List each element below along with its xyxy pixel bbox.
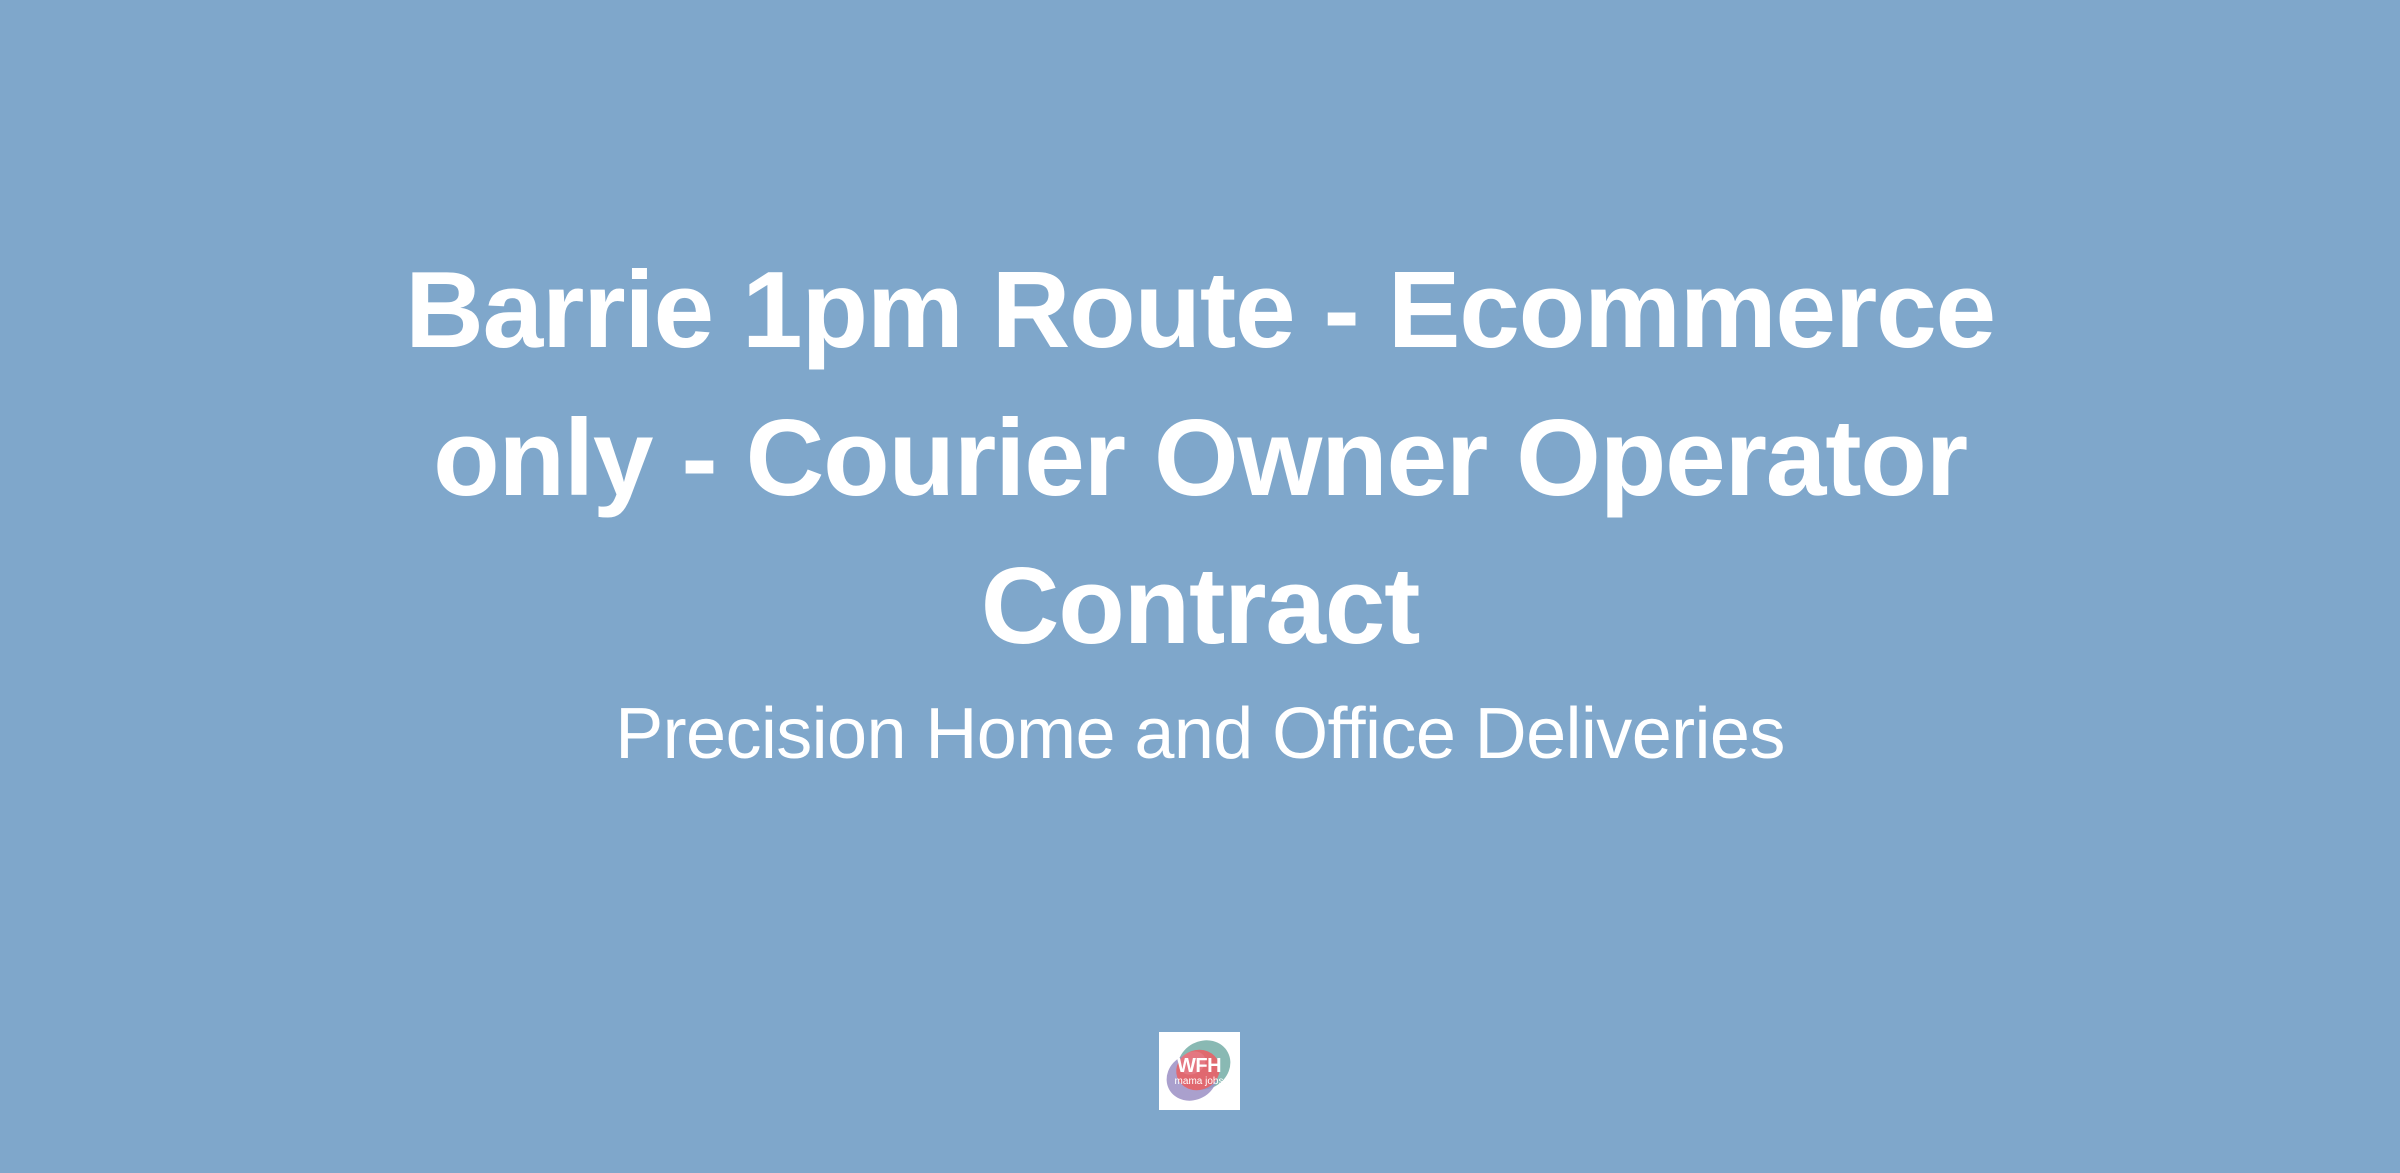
title-block: Barrie 1pm Route - Ecommerce only - Cour… bbox=[0, 236, 2400, 680]
page-title: Barrie 1pm Route - Ecommerce only - Cour… bbox=[0, 236, 2400, 680]
svg-text:mama jobs: mama jobs bbox=[1175, 1076, 1224, 1087]
job-posting-banner: Barrie 1pm Route - Ecommerce only - Cour… bbox=[0, 0, 2400, 1173]
logo-mark-icon: WFH mama jobs bbox=[1159, 1032, 1240, 1110]
wfh-mama-jobs-logo[interactable]: WFH mama jobs bbox=[1159, 1032, 1240, 1110]
svg-text:WFH: WFH bbox=[1177, 1055, 1221, 1077]
company-subtitle: Precision Home and Office Deliveries bbox=[0, 689, 2400, 779]
